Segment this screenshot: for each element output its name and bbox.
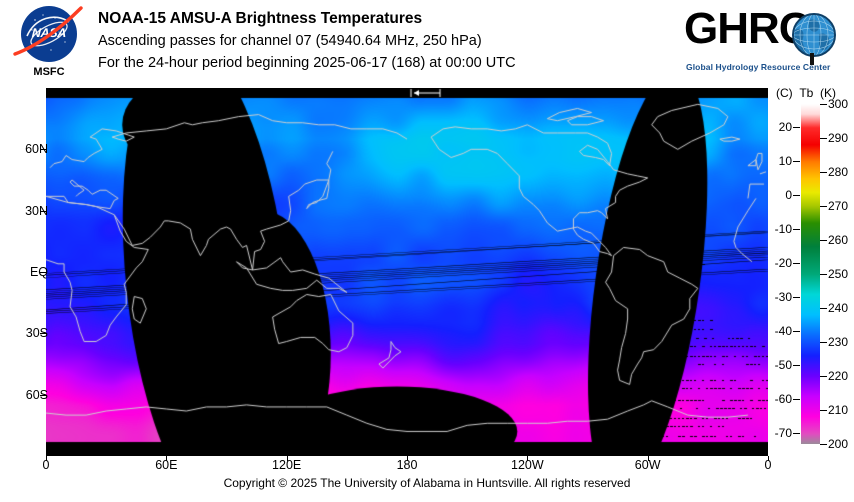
globe-icon [791, 12, 837, 58]
nasa-swoosh-icon [13, 6, 85, 62]
colorbar-celsius-label-4: -20 [775, 256, 792, 270]
colorbar-celsius-tick-9 [793, 433, 800, 434]
colorbar-celsius-tick-2 [793, 195, 800, 196]
colorbar-kelvin-label-0: 300 [828, 97, 848, 111]
colorbar-kelvin-label-9: 210 [828, 403, 848, 417]
nasa-center-label: MSFC [21, 66, 77, 78]
y-axis-tick-2 [40, 272, 46, 273]
colorbar-kelvin-label-4: 260 [828, 233, 848, 247]
colorbar-kelvin-label-7: 230 [828, 335, 848, 349]
colorbar-celsius-tick-3 [793, 229, 800, 230]
colorbar-kelvin-tick-8 [820, 376, 827, 377]
colorbar-kelvin-label-3: 270 [828, 199, 848, 213]
x-axis-tick-0 [46, 456, 47, 461]
colorbar-kelvin-label-10: 200 [828, 437, 848, 451]
colorbar-kelvin-tick-10 [820, 444, 827, 445]
colorbar-celsius-tick-8 [793, 399, 800, 400]
colorbar-kelvin-tick-7 [820, 342, 827, 343]
y-axis-tick-3 [40, 333, 46, 334]
colorbar-celsius-tick-4 [793, 263, 800, 264]
x-axis-tick-3 [407, 456, 408, 461]
colorbar-celsius-label-9: -70 [775, 426, 792, 440]
colorbar-celsius-label-6: -40 [775, 324, 792, 338]
copyright-notice: Copyright © 2025 The University of Alaba… [0, 476, 854, 490]
title-block: NOAA-15 AMSU-A Brightness Temperatures A… [98, 8, 516, 74]
colorbar-celsius-label-0: 20 [779, 120, 792, 134]
colorbar-celsius-tick-6 [793, 331, 800, 332]
page-title: NOAA-15 AMSU-A Brightness Temperatures [98, 8, 516, 30]
colorbar-kelvin-tick-6 [820, 308, 827, 309]
colorbar-celsius-tick-7 [793, 365, 800, 366]
x-axis-tick-1 [166, 456, 167, 461]
y-axis-tick-0 [40, 149, 46, 150]
colorbar-celsius-label-2: 0 [785, 188, 792, 202]
colorbar-kelvin-label-2: 280 [828, 165, 848, 179]
colorbar-variable: Tb [799, 86, 813, 100]
colorbar-celsius-tick-1 [793, 161, 800, 162]
colorbar-celsius-tick-5 [793, 297, 800, 298]
colorbar-kelvin-label-5: 250 [828, 267, 848, 281]
y-axis-tick-4 [40, 395, 46, 396]
colorbar-kelvin-tick-3 [820, 206, 827, 207]
colorbar-kelvin-label-1: 290 [828, 131, 848, 145]
colorbar-kelvin-tick-0 [820, 104, 827, 105]
colorbar-celsius-label-1: 10 [779, 154, 792, 168]
colorbar-celsius-label-7: -50 [775, 358, 792, 372]
brightness-temperature-map [46, 88, 768, 456]
x-axis-tick-5 [648, 456, 649, 461]
x-axis-tick-6 [768, 456, 769, 461]
x-axis-tick-2 [287, 456, 288, 461]
colorbar-gradient [801, 104, 820, 444]
colorbar [801, 104, 820, 444]
map-plot-area [46, 88, 768, 456]
colorbar-kelvin-label-8: 220 [828, 369, 848, 383]
colorbar-kelvin-tick-9 [820, 410, 827, 411]
colorbar-kelvin-label-6: 240 [828, 301, 848, 315]
colorbar-kelvin-tick-1 [820, 138, 827, 139]
colorbar-celsius-label-5: -30 [775, 290, 792, 304]
colorbar-celsius-tick-0 [793, 127, 800, 128]
colorbar-celsius-label-8: -60 [775, 392, 792, 406]
period-subtitle: For the 24-hour period beginning 2025-06… [98, 52, 516, 74]
colorbar-kelvin-tick-4 [820, 240, 827, 241]
x-axis-tick-4 [527, 456, 528, 461]
ghrc-logo: GHRC Global Hydrolo [684, 6, 844, 80]
colorbar-celsius-label-3: -10 [775, 222, 792, 236]
y-axis-tick-1 [40, 211, 46, 212]
channel-subtitle: Ascending passes for channel 07 (54940.6… [98, 30, 516, 52]
colorbar-unit-celsius: (C) [776, 86, 793, 100]
ghrc-subtitle: Global Hydrology Resource Center [686, 62, 830, 72]
page-header: NASA MSFC NOAA-15 AMSU-A Brightness Temp… [0, 0, 854, 88]
nasa-logo: NASA MSFC [13, 6, 85, 84]
colorbar-kelvin-tick-2 [820, 172, 827, 173]
colorbar-kelvin-tick-5 [820, 274, 827, 275]
